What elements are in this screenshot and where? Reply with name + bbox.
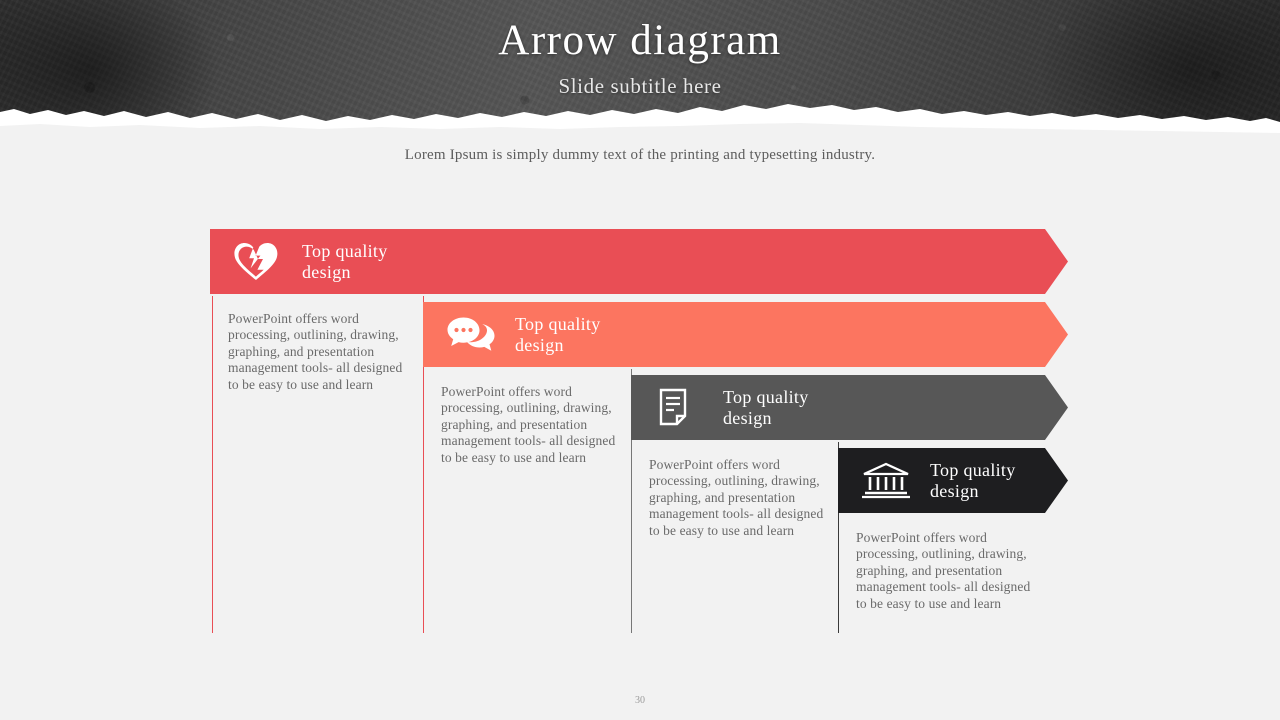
arrow-title-2: Top quality design (515, 314, 601, 356)
broken-heart-icon (232, 240, 288, 284)
arrow-bar-3[interactable]: Top quality design (631, 375, 1068, 440)
divider-1-left (212, 296, 213, 633)
arrow-title-1-line2: design (302, 262, 351, 282)
arrow-title-1: Top quality design (302, 241, 388, 283)
bank-building-icon (860, 459, 916, 503)
arrow-title-4-line2: design (930, 481, 979, 501)
page-title: Arrow diagram (0, 16, 1280, 65)
arrow-body-3: PowerPoint offers word processing, outli… (633, 443, 845, 539)
arrow-title-3-line2: design (723, 408, 772, 428)
page-number: 30 (0, 695, 1280, 706)
arrow-body-2: PowerPoint offers word processing, outli… (425, 370, 637, 466)
arrow-title-3: Top quality design (723, 387, 809, 429)
arrow-bar-1[interactable]: Top quality design (210, 229, 1068, 294)
arrow-body-4-text: PowerPoint offers word processing, outli… (856, 530, 1036, 612)
arrow-title-2-line2: design (515, 335, 564, 355)
arrow-title-4-line1: Top quality (930, 460, 1016, 480)
arrow-title-3-line1: Top quality (723, 387, 809, 407)
document-icon (653, 386, 709, 430)
speech-bubbles-icon (445, 313, 501, 357)
arrow-bar-2[interactable]: Top quality design (423, 302, 1068, 367)
torn-paper-edge (0, 96, 1280, 142)
arrow-bar-4[interactable]: Top quality design (838, 448, 1068, 513)
arrow-body-4: PowerPoint offers word processing, outli… (840, 516, 1052, 612)
arrow-body-3-text: PowerPoint offers word processing, outli… (649, 457, 829, 539)
arrow-body-2-text: PowerPoint offers word processing, outli… (441, 384, 621, 466)
arrow-title-2-line1: Top quality (515, 314, 601, 334)
arrow-body-1-text: PowerPoint offers word processing, outli… (228, 311, 408, 393)
arrow-title-1-line1: Top quality (302, 241, 388, 261)
arrow-title-4: Top quality design (930, 460, 1016, 502)
arrow-body-1: PowerPoint offers word processing, outli… (212, 297, 424, 393)
